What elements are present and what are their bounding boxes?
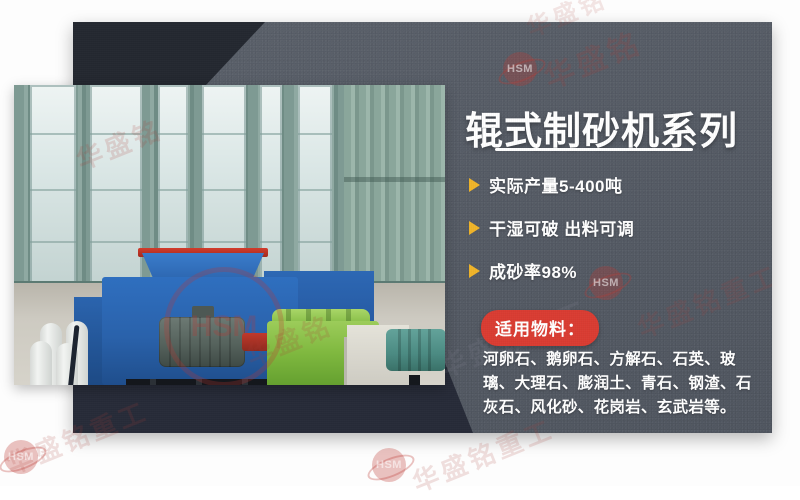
materials-text: 河卵石、鹅卵石、方解石、石英、玻璃、大理石、膨润土、青石、钢渣、石灰石、风化砂、… (483, 348, 765, 420)
teal-motor (386, 329, 445, 371)
title-divider (495, 148, 693, 151)
page-watermark-logo-text-2: HSM (372, 448, 406, 482)
electric-motor (159, 317, 245, 367)
banner-canvas: HSM 华盛铭 华盛铭重工 HSM 华盛铭重工 辊式制砂机系列 实际产量5-40… (0, 0, 800, 486)
feature-item-3: 成砂率98% (469, 258, 769, 283)
feature-item-1: 实际产量5-400吨 (469, 172, 769, 197)
page-watermark-logo-text: HSM (4, 440, 38, 474)
gas-cylinder (30, 341, 52, 385)
page-watermark-logo-bottom-left: HSM (4, 440, 38, 474)
page-watermark-logo-bottom-center: HSM (372, 448, 406, 482)
page-title: 辊式制砂机系列 (465, 100, 765, 155)
window-pane (90, 85, 142, 285)
materials-badge: 适用物料： (481, 310, 599, 346)
product-photo: HSM 华盛铭 华盛铭 (14, 85, 445, 385)
feature-list: 实际产量5-400吨 干湿可破 出料可调 成砂率98% (469, 172, 769, 301)
feature-label-3: 成砂率98% (489, 258, 577, 283)
banner-content: 辊式制砂机系列 实际产量5-400吨 干湿可破 出料可调 成砂率98% 适用物料… (465, 22, 772, 433)
feature-label-2: 干湿可破 出料可调 (489, 215, 634, 240)
green-wall-panel (344, 85, 445, 300)
arrow-right-icon (469, 264, 480, 278)
window-pane (298, 85, 332, 285)
arrow-right-icon (469, 221, 480, 235)
window-pane (30, 85, 76, 285)
arrow-right-icon (469, 178, 480, 192)
feature-item-2: 干湿可破 出料可调 (469, 215, 769, 240)
feature-label-1: 实际产量5-400吨 (489, 172, 622, 197)
